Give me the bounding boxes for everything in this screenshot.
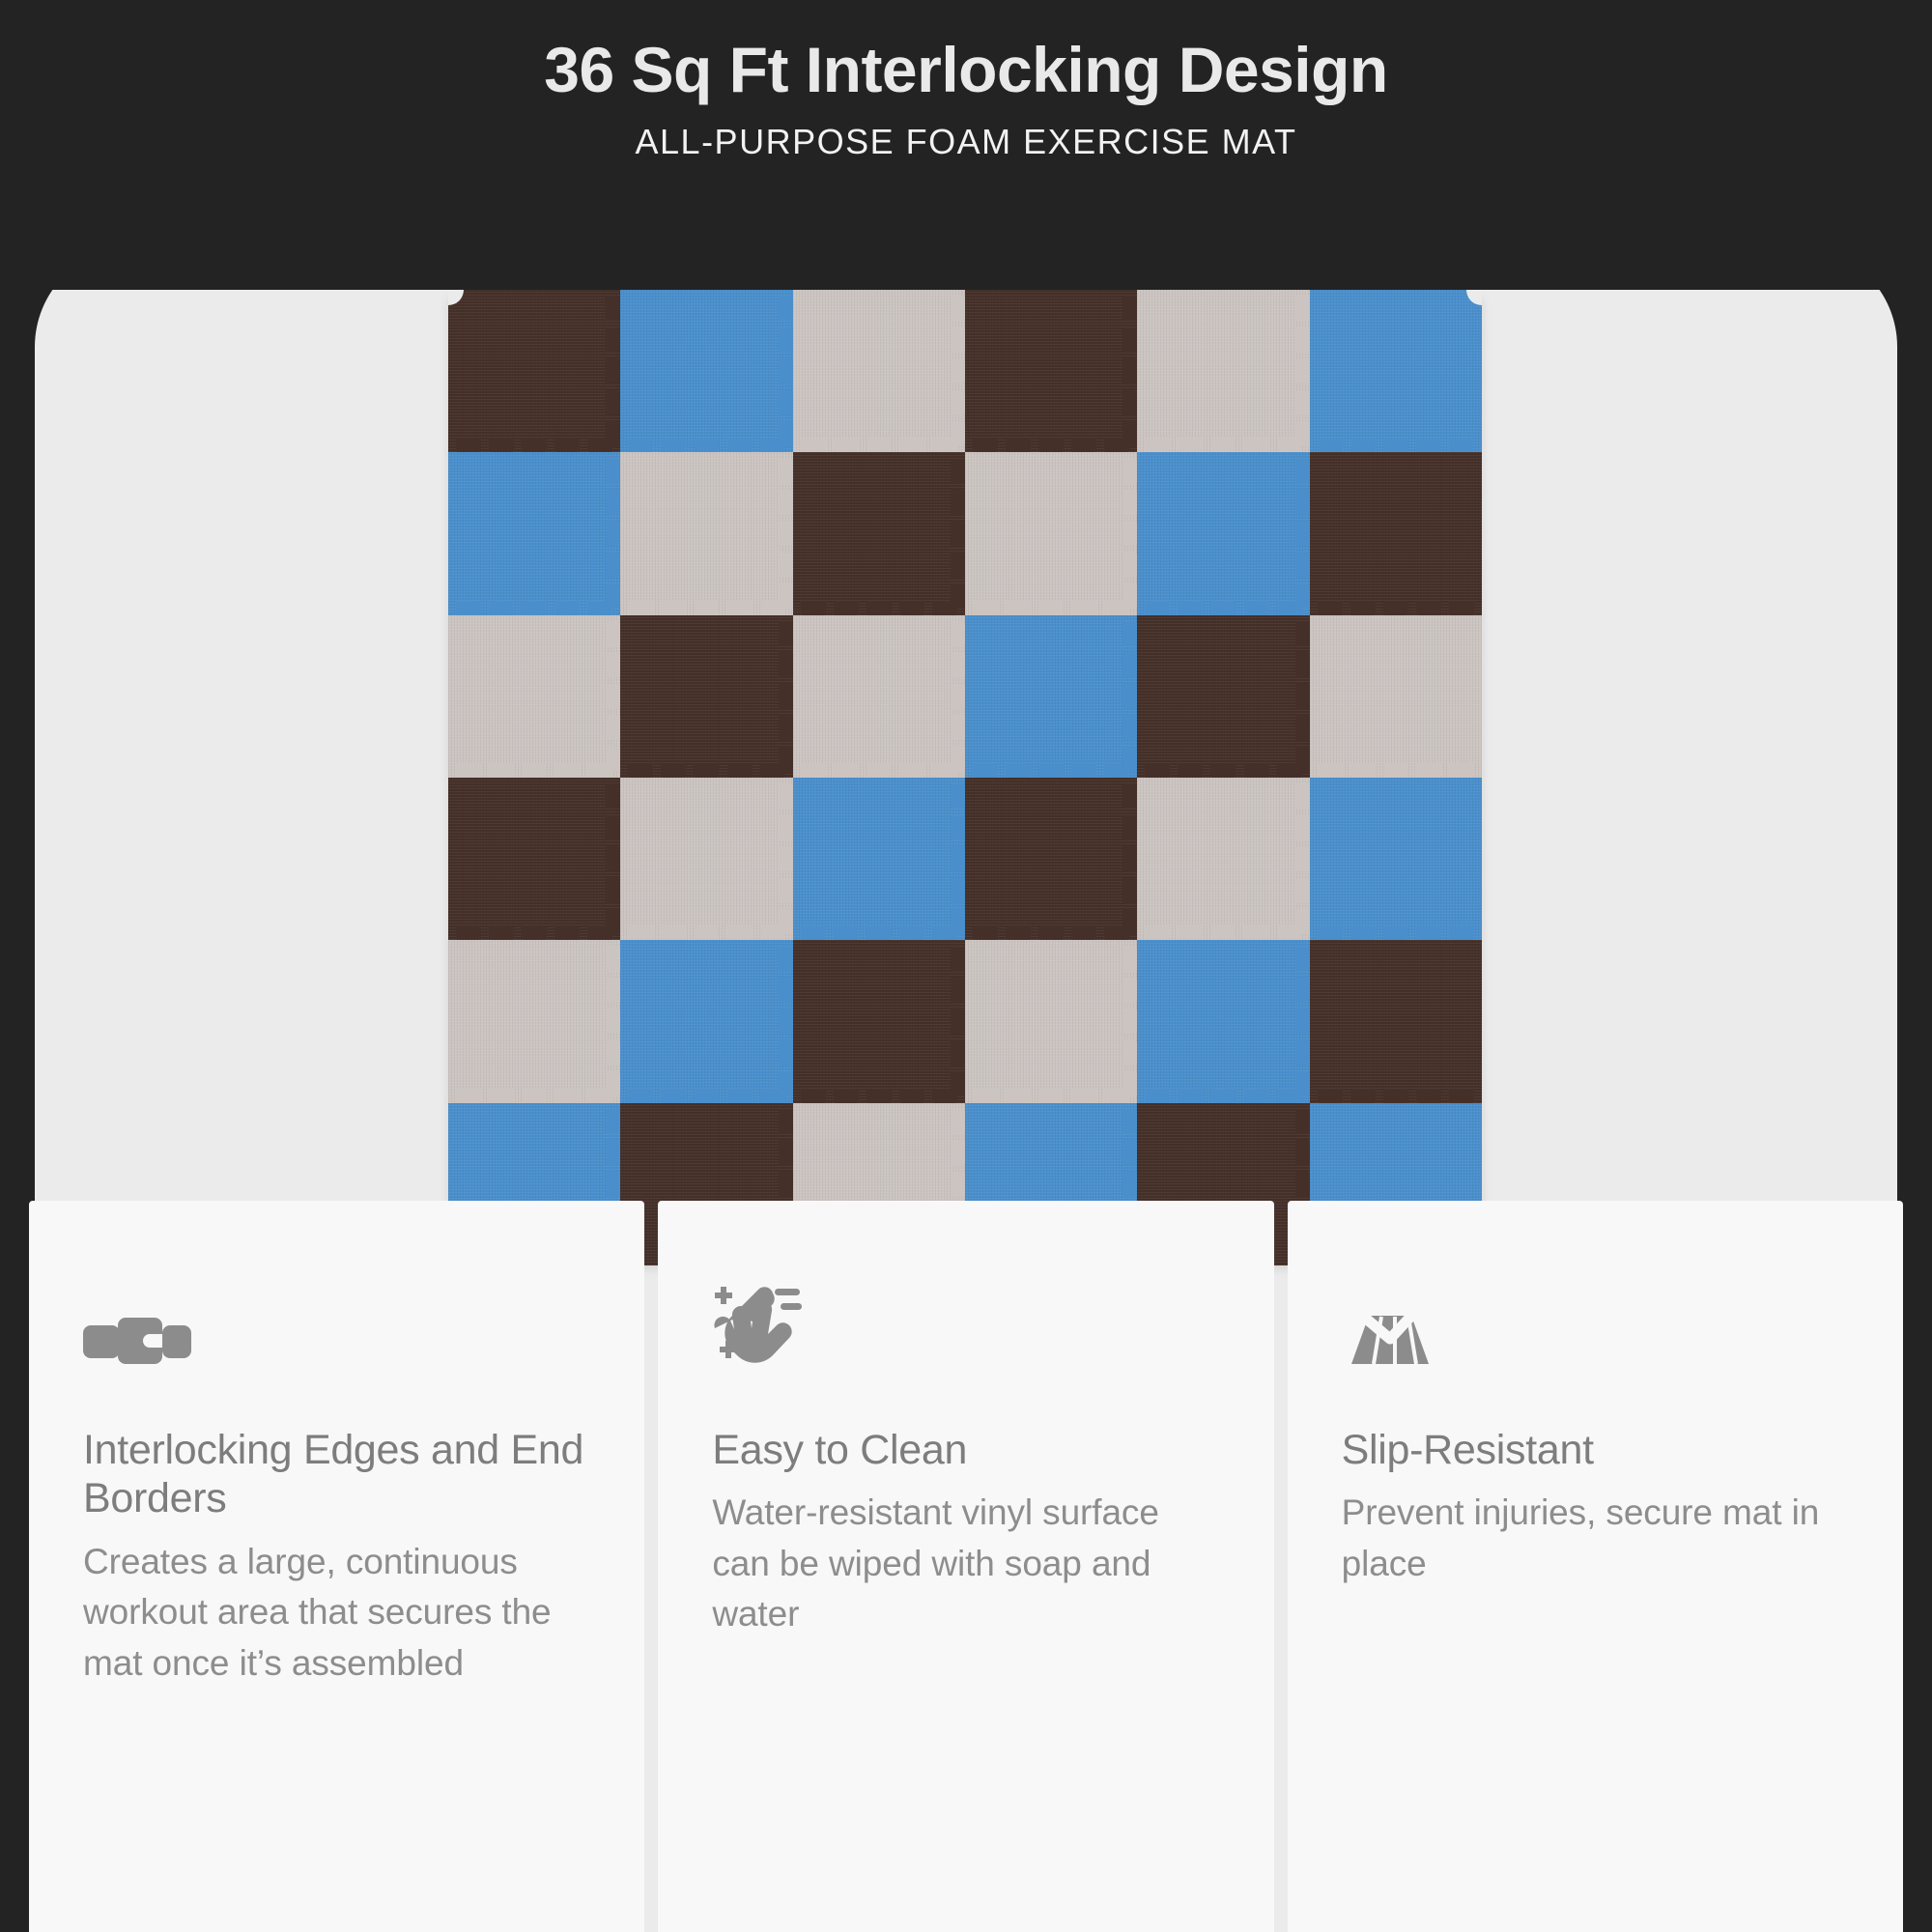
tile-right-tabs (779, 940, 794, 1102)
mat-tile (620, 452, 792, 614)
page-title: 36 Sq Ft Interlocking Design (0, 0, 1932, 105)
slip-resistant-mat-icon (1342, 1283, 1849, 1370)
tile-bottom-tabs (965, 601, 1137, 616)
tile-right-tabs (951, 940, 966, 1102)
header-banner: 36 Sq Ft Interlocking Design ALL-PURPOSE… (0, 0, 1932, 290)
feature-card: Interlocking Edges and End BordersCreate… (29, 1201, 644, 1932)
tile-bottom-tabs (448, 1089, 620, 1104)
mat-tile (1310, 290, 1482, 452)
mat-tile (1310, 452, 1482, 614)
tile-right-tabs (606, 615, 621, 778)
tile-bottom-tabs (448, 438, 620, 453)
product-image-foam-mat (448, 290, 1482, 1265)
tile-bottom-tabs (620, 1089, 792, 1104)
tile-bottom-tabs (793, 925, 965, 941)
tile-right-tabs (951, 290, 966, 452)
mat-tile (1137, 940, 1309, 1102)
tile-bottom-tabs (1137, 763, 1309, 779)
mat-tile (965, 452, 1137, 614)
tile-right-tabs (1122, 615, 1138, 778)
tile-right-tabs (951, 778, 966, 940)
tile-bottom-tabs (448, 925, 620, 941)
tile-right-tabs (1295, 615, 1311, 778)
tile-bottom-tabs (793, 1089, 965, 1104)
tile-right-tabs (951, 452, 966, 614)
tile-right-tabs (779, 452, 794, 614)
feature-description: Water-resistant vinyl surface can be wip… (712, 1488, 1219, 1640)
mat-tile (448, 940, 620, 1102)
tile-right-tabs (779, 615, 794, 778)
mat-tile (620, 615, 792, 778)
tile-bottom-tabs (1137, 1089, 1309, 1104)
tile-bottom-tabs (1310, 438, 1482, 453)
tile-bottom-tabs (793, 763, 965, 779)
mat-tile (448, 452, 620, 614)
mat-tile (965, 615, 1137, 778)
mat-tile (448, 290, 620, 452)
tile-bottom-tabs (1310, 763, 1482, 779)
tile-right-tabs (1295, 290, 1311, 452)
tile-right-tabs (779, 290, 794, 452)
mat-tile (620, 778, 792, 940)
mat-tile (448, 778, 620, 940)
tile-bottom-tabs (620, 763, 792, 779)
feature-description: Prevent injuries, secure mat in place (1342, 1488, 1849, 1589)
mat-tile (793, 615, 965, 778)
wiping-hand-icon (712, 1283, 1219, 1370)
mat-tile (965, 290, 1137, 452)
mat-tile-grid (448, 290, 1482, 1265)
tile-bottom-tabs (1137, 438, 1309, 453)
mat-tile (965, 778, 1137, 940)
mat-tile (793, 940, 965, 1102)
tile-bottom-tabs (1310, 925, 1482, 941)
feature-card: Slip-ResistantPrevent injuries, secure m… (1288, 1201, 1903, 1932)
tile-bottom-tabs (965, 1089, 1137, 1104)
mat-tile (1137, 290, 1309, 452)
mat-tile (793, 290, 965, 452)
tile-bottom-tabs (448, 601, 620, 616)
page-subtitle: ALL-PURPOSE FOAM EXERCISE MAT (0, 105, 1932, 161)
feature-card: Easy to CleanWater-resistant vinyl surfa… (658, 1201, 1273, 1932)
tile-bottom-tabs (793, 601, 965, 616)
tile-bottom-tabs (1137, 601, 1309, 616)
tile-bottom-tabs (965, 438, 1137, 453)
mat-tile (1137, 778, 1309, 940)
mat-tile (620, 290, 792, 452)
mat-tile (448, 615, 620, 778)
interlocking-tiles-icon (83, 1283, 590, 1370)
mat-tile (1137, 615, 1309, 778)
feature-title: Interlocking Edges and End Borders (83, 1426, 590, 1523)
tile-right-tabs (606, 778, 621, 940)
tile-bottom-tabs (965, 763, 1137, 779)
tile-right-tabs (779, 778, 794, 940)
tile-bottom-tabs (620, 601, 792, 616)
tile-bottom-tabs (448, 763, 620, 779)
tile-bottom-tabs (1137, 925, 1309, 941)
tile-bottom-tabs (1310, 1089, 1482, 1104)
feature-description: Creates a large, continuous workout area… (83, 1537, 590, 1690)
tile-right-tabs (606, 290, 621, 452)
mat-tile (620, 940, 792, 1102)
mat-tile (1310, 615, 1482, 778)
mat-tile (793, 778, 965, 940)
feature-card-list: Interlocking Edges and End BordersCreate… (29, 1201, 1903, 1932)
tile-right-tabs (1122, 940, 1138, 1102)
feature-title: Easy to Clean (712, 1426, 1219, 1474)
mat-tile (1310, 940, 1482, 1102)
mat-tile (1310, 778, 1482, 940)
tile-right-tabs (1122, 778, 1138, 940)
tile-right-tabs (1122, 290, 1138, 452)
tile-right-tabs (1295, 778, 1311, 940)
tile-right-tabs (1295, 940, 1311, 1102)
tile-right-tabs (606, 940, 621, 1102)
mat-tile (793, 452, 965, 614)
tile-bottom-tabs (965, 925, 1137, 941)
tile-bottom-tabs (620, 438, 792, 453)
tile-right-tabs (606, 452, 621, 614)
tile-bottom-tabs (1310, 601, 1482, 616)
tile-bottom-tabs (620, 925, 792, 941)
tile-right-tabs (951, 615, 966, 778)
tile-right-tabs (1295, 452, 1311, 614)
mat-tile (1137, 452, 1309, 614)
tile-bottom-tabs (793, 438, 965, 453)
mat-tile (965, 940, 1137, 1102)
feature-title: Slip-Resistant (1342, 1426, 1849, 1474)
tile-right-tabs (1122, 452, 1138, 614)
